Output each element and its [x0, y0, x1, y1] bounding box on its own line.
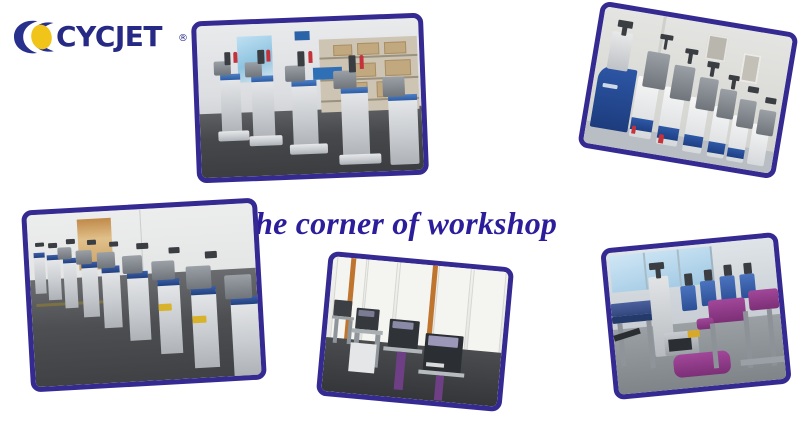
photo-long-row-grey-machines — [21, 198, 267, 393]
photo-4-content — [321, 256, 509, 406]
photo-2-content — [583, 6, 793, 173]
cycjet-wordmark: CYCJET — [56, 23, 162, 51]
photo-dark-printers-by-windows — [316, 251, 514, 412]
photo-5-content — [606, 237, 787, 394]
photo-3-content — [26, 203, 261, 387]
photo-workshop-laser-markers-row — [191, 13, 429, 184]
photo-blue-white-marking-machines-line — [577, 1, 799, 180]
registered-trademark-icon: ® — [178, 34, 188, 44]
poster-canvas: CYCJET ® the corner of workshop — [0, 0, 800, 429]
photo-conveyor-and-purple-covered-machines — [600, 232, 792, 400]
cycjet-crescent-logo-icon — [12, 18, 58, 56]
page-title: the corner of workshop — [246, 204, 606, 242]
photo-1-content — [196, 18, 424, 178]
cycjet-logo: CYCJET ® — [12, 16, 197, 58]
